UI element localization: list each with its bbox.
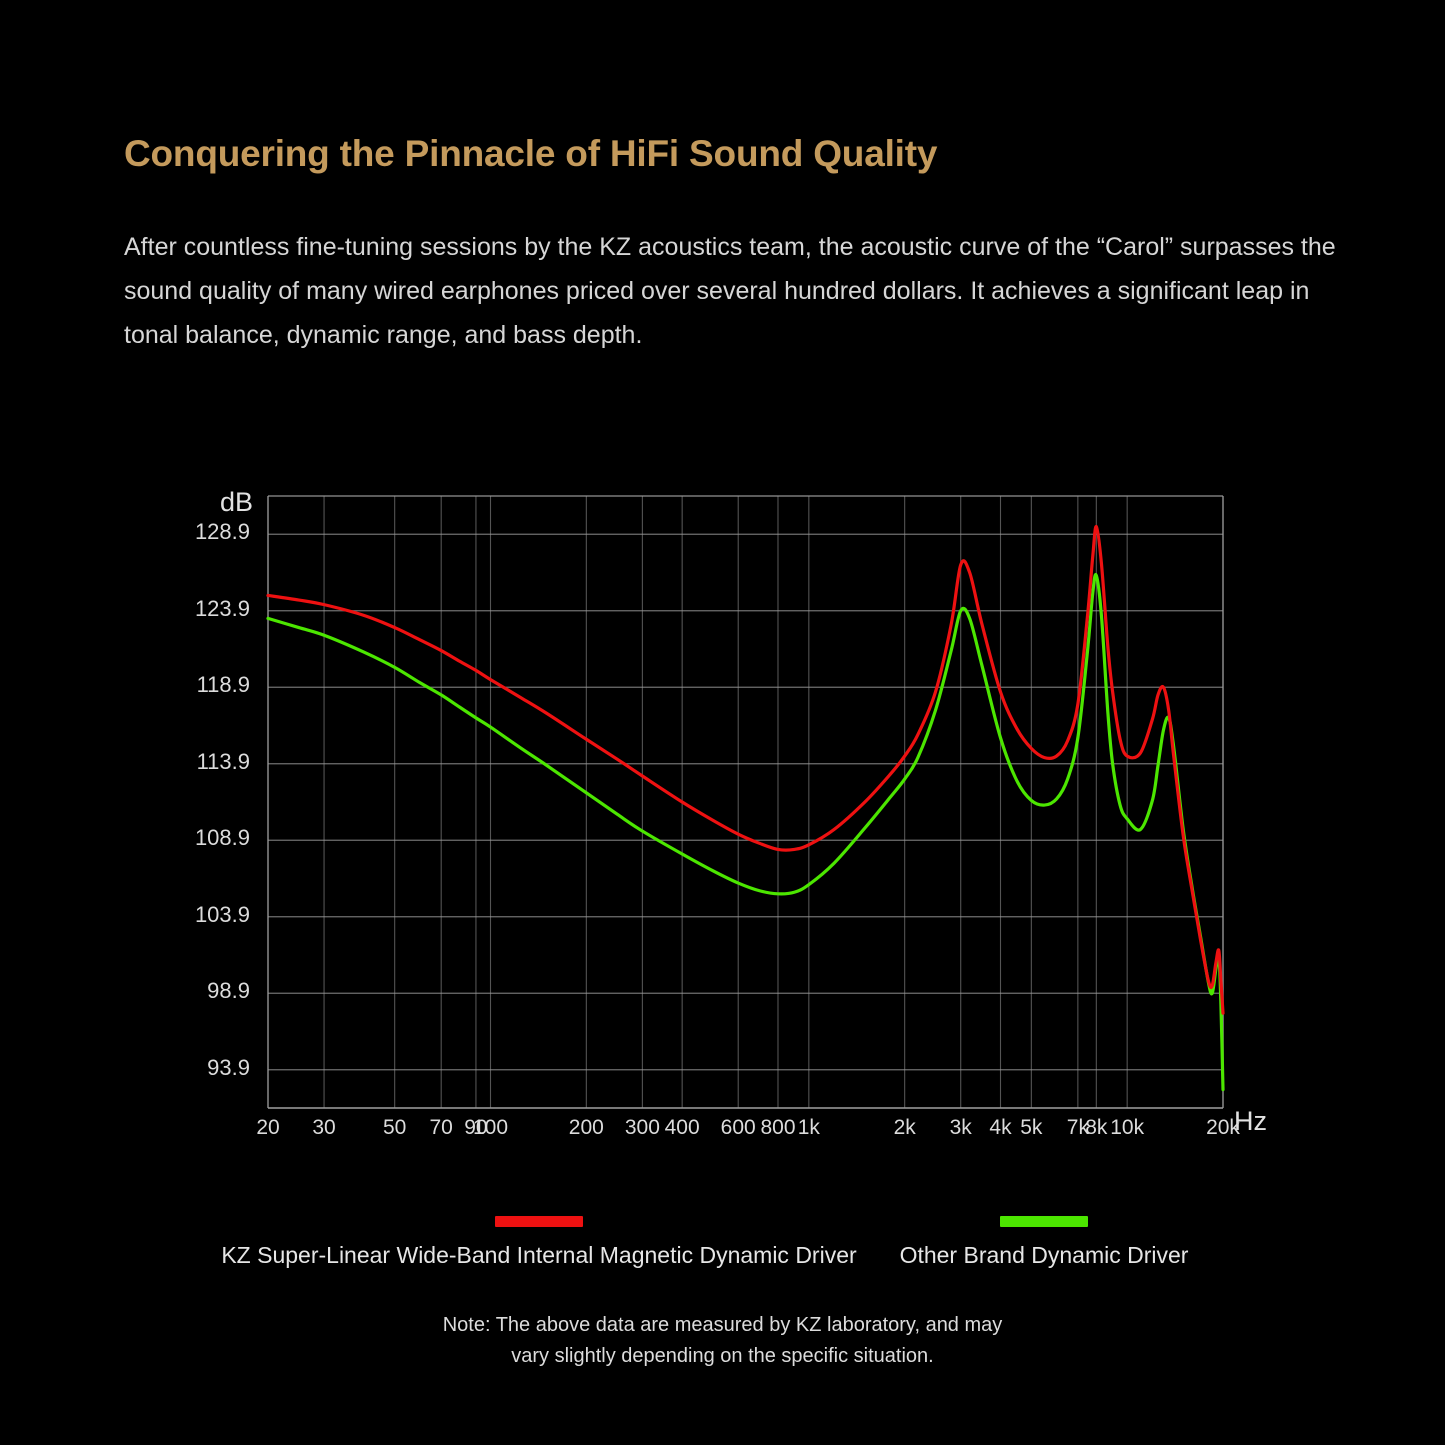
y-axis-tick-label: 103.9 — [160, 902, 250, 928]
footnote-line-2: vary slightly depending on the specific … — [0, 1341, 1445, 1372]
x-axis-tick-label: 1k — [798, 1116, 820, 1140]
y-axis-tick-label: 108.9 — [160, 825, 250, 851]
footnote: Note: The above data are measured by KZ … — [0, 1310, 1445, 1372]
legend-color-swatch — [1000, 1216, 1088, 1227]
legend-label: Other Brand Dynamic Driver — [900, 1242, 1189, 1269]
y-axis-title: dB — [220, 487, 253, 518]
y-axis-tick-label: 118.9 — [160, 672, 250, 698]
chart-gridlines — [268, 496, 1223, 1108]
x-axis-tick-label: 30 — [312, 1116, 335, 1140]
x-axis-tick-label: 50 — [383, 1116, 406, 1140]
x-axis-tick-label: 5k — [1020, 1116, 1042, 1140]
y-axis-tick-label: 128.9 — [160, 519, 250, 545]
x-axis-tick-label: 20 — [256, 1116, 279, 1140]
x-axis-tick-label: 800 — [760, 1116, 795, 1140]
x-axis-tick-label: 2k — [894, 1116, 916, 1140]
x-axis-tick-label: 8k — [1085, 1116, 1107, 1140]
x-axis-tick-label: 100 — [473, 1116, 508, 1140]
y-axis-tick-label: 123.9 — [160, 596, 250, 622]
footnote-line-1: Note: The above data are measured by KZ … — [0, 1310, 1445, 1341]
series-line — [268, 575, 1223, 1090]
legend-color-swatch — [495, 1216, 583, 1227]
x-axis-tick-label: 300 — [625, 1116, 660, 1140]
x-axis-tick-label: 10k — [1110, 1116, 1144, 1140]
x-axis-tick-label: 600 — [721, 1116, 756, 1140]
x-axis-tick-label: 400 — [665, 1116, 700, 1140]
page-root: Conquering the Pinnacle of HiFi Sound Qu… — [0, 0, 1445, 1445]
series-line — [268, 527, 1223, 1014]
chart-legend: KZ Super-Linear Wide-Band Internal Magne… — [0, 1216, 1445, 1286]
x-axis-tick-label: 200 — [569, 1116, 604, 1140]
legend-label: KZ Super-Linear Wide-Band Internal Magne… — [221, 1242, 856, 1269]
x-axis-tick-label: 20k — [1206, 1116, 1240, 1140]
y-axis-tick-label: 113.9 — [160, 749, 250, 775]
x-axis-tick-label: 3k — [950, 1116, 972, 1140]
x-axis-tick-label: 70 — [430, 1116, 453, 1140]
x-axis-tick-label: 4k — [989, 1116, 1011, 1140]
y-axis-tick-label: 93.9 — [160, 1055, 250, 1081]
y-axis-tick-label: 98.9 — [160, 978, 250, 1004]
